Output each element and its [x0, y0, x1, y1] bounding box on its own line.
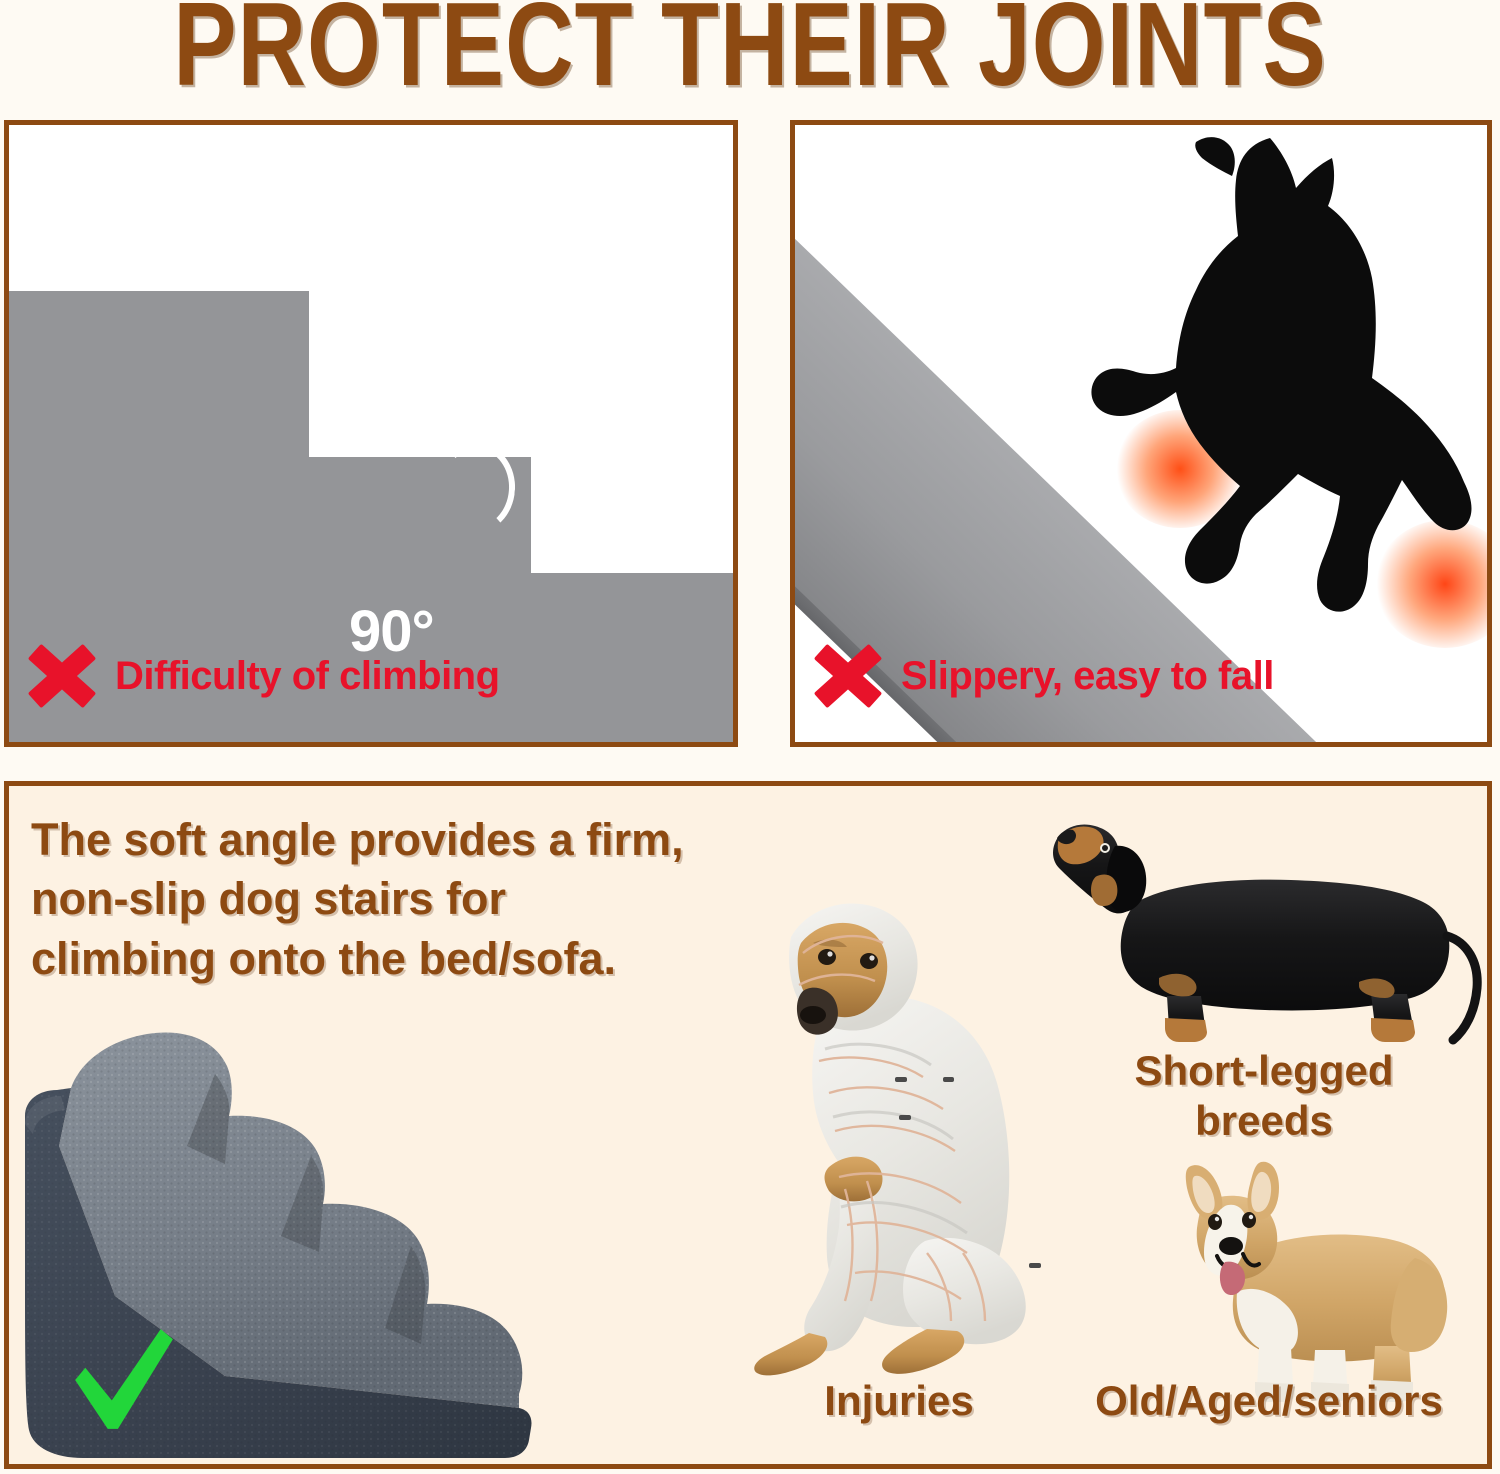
photo-injured-dog-recovery-suit	[699, 881, 1099, 1381]
photo-corgi-old-aged-seniors	[1139, 1136, 1469, 1416]
dog-silhouette-icon	[1020, 130, 1480, 650]
panel-product-benefits: The soft angle provides a firm, non-slip…	[4, 781, 1492, 1469]
product-headline: The soft angle provides a firm, non-slip…	[31, 810, 731, 988]
headline-line-3: climbing onto the bed/sofa.	[31, 929, 731, 988]
infographic-root: PROTECT THEIR JOINTS 90° Difficulty of c…	[0, 0, 1500, 1474]
headline-line-2: non-slip dog stairs for	[31, 869, 731, 928]
page-title: PROTECT THEIR JOINTS	[0, 0, 1500, 94]
caption-short-legged-breeds: Short-legged breeds	[1099, 1046, 1429, 1147]
headline-line-1: The soft angle provides a firm,	[31, 810, 731, 869]
caption-injuries: Injuries	[749, 1376, 1049, 1426]
red-x-icon	[809, 637, 887, 715]
bad-mark-slippery: Slippery, easy to fall	[809, 637, 1274, 715]
panel-slippery-ramp: Slippery, easy to fall	[790, 120, 1492, 747]
page-title-text: PROTECT THEIR JOINTS	[173, 0, 1327, 112]
panel-difficulty-of-climbing: 90° Difficulty of climbing	[4, 120, 738, 747]
bad-label-slippery: Slippery, easy to fall	[901, 654, 1274, 699]
bad-mark-difficulty: Difficulty of climbing	[23, 637, 500, 715]
step-block-low	[531, 573, 738, 746]
green-check-icon	[67, 1323, 179, 1435]
caption-old-aged-seniors: Old/Aged/seniors	[1049, 1376, 1489, 1426]
red-x-icon	[23, 637, 101, 715]
bad-label-difficulty: Difficulty of climbing	[115, 654, 500, 699]
